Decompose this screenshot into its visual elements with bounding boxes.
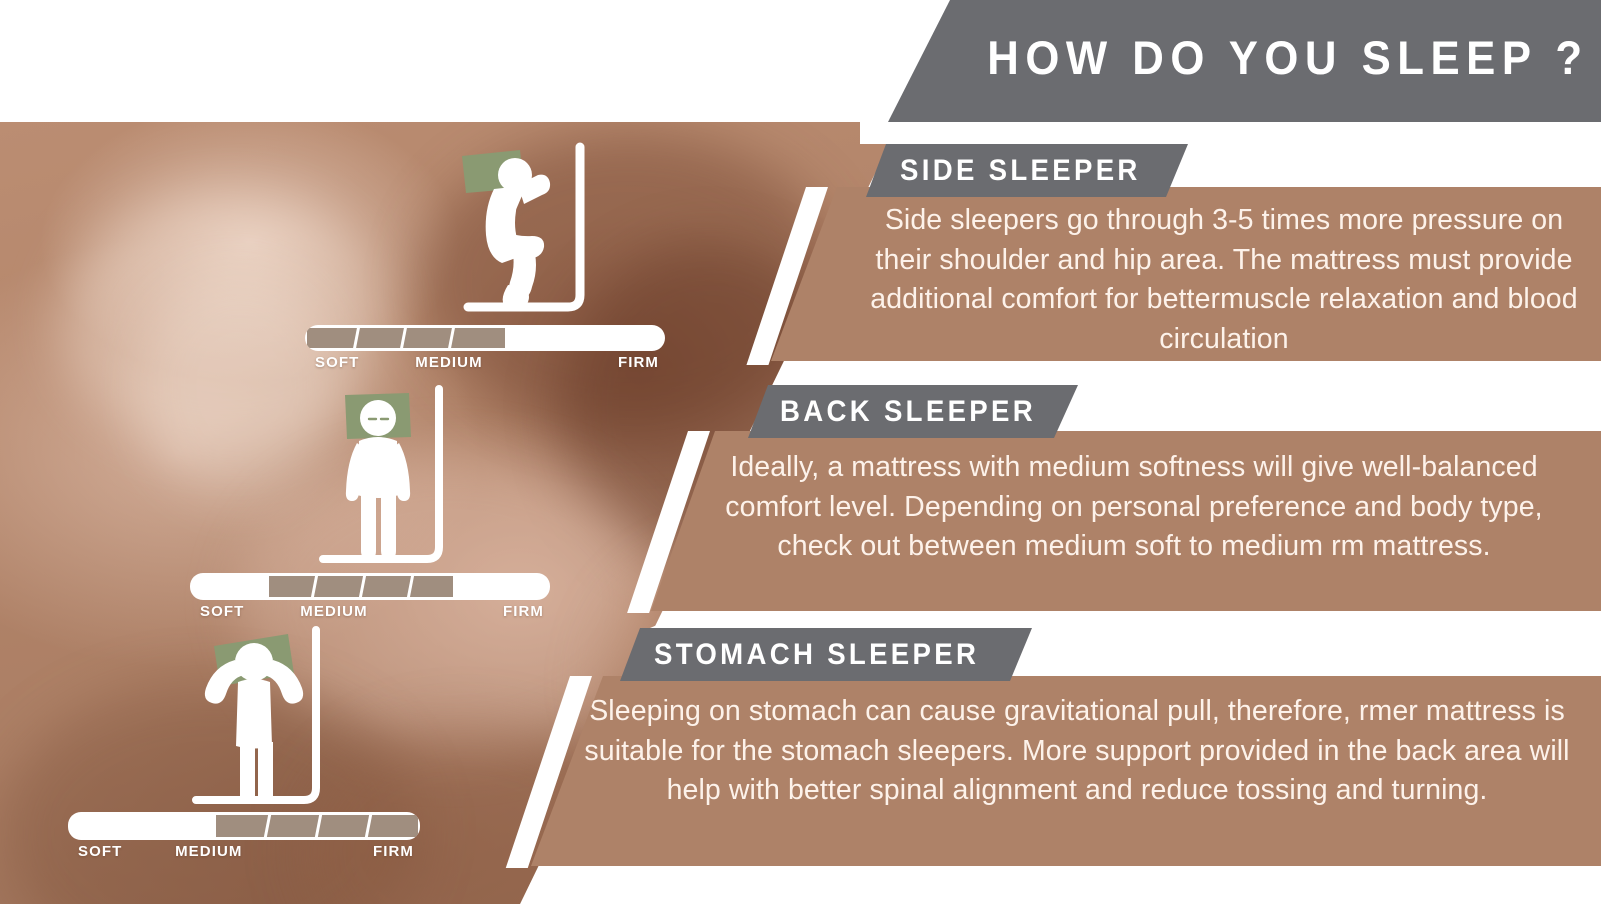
divider-below-title xyxy=(860,122,1601,144)
header-white-wedge xyxy=(0,0,960,122)
section-heading-label: SIDE SLEEPER xyxy=(900,154,1141,188)
firmness-scale-back: SOFT MEDIUM FIRM xyxy=(190,573,550,625)
firmness-bar[interactable] xyxy=(190,573,550,600)
label-medium: MEDIUM xyxy=(300,603,367,620)
section-panel-side-sleeper: Side sleepers go through 3-5 times more … xyxy=(771,187,1601,361)
side-sleeper-illustration-group: SOFT MEDIUM FIRM xyxy=(305,135,680,376)
firmness-fill xyxy=(269,576,453,597)
firmness-scale-stomach: SOFT MEDIUM FIRM xyxy=(68,812,420,865)
section-heading-side-sleeper: SIDE SLEEPER xyxy=(866,144,1188,197)
label-soft: SOFT xyxy=(200,603,244,620)
section-body-side-sleeper: Side sleepers go through 3-5 times more … xyxy=(771,187,1601,359)
firmness-fill xyxy=(307,328,505,348)
section-heading-label: BACK SLEEPER xyxy=(780,395,1036,429)
back-sleeper-icon xyxy=(305,383,485,563)
section-heading-stomach-sleeper: STOMACH SLEEPER xyxy=(620,628,1032,681)
firmness-bar[interactable] xyxy=(68,812,420,840)
label-firm: FIRM xyxy=(373,843,414,860)
section-heading-back-sleeper: BACK SLEEPER xyxy=(748,385,1078,438)
section-heading-label: STOMACH SLEEPER xyxy=(654,638,979,672)
firmness-bar[interactable] xyxy=(305,325,665,351)
label-firm: FIRM xyxy=(618,354,659,371)
firmness-labels: SOFT MEDIUM FIRM xyxy=(68,843,420,865)
divider-section-1-2 xyxy=(780,361,1601,385)
section-body-stomach-sleeper: Sleeping on stomach can cause gravitatio… xyxy=(531,676,1601,811)
section-panel-stomach-sleeper: Sleeping on stomach can cause gravitatio… xyxy=(531,676,1601,866)
label-soft: SOFT xyxy=(315,354,359,371)
page-title: HOW DO YOU SLEEP ? xyxy=(988,30,1589,85)
stomach-sleeper-illustration-group: SOFT MEDIUM FIRM xyxy=(68,620,443,865)
section-panel-back-sleeper: Ideally, a mattress with medium softness… xyxy=(651,431,1601,611)
infographic-root: SOFT MEDIUM FIRM xyxy=(0,0,1601,904)
label-firm: FIRM xyxy=(503,603,544,620)
label-medium: MEDIUM xyxy=(175,843,242,860)
stomach-sleeper-icon xyxy=(178,620,363,805)
firmness-labels: SOFT MEDIUM FIRM xyxy=(305,354,665,376)
label-medium: MEDIUM xyxy=(415,354,482,371)
divider-bottom xyxy=(540,866,1601,904)
firmness-scale-side: SOFT MEDIUM FIRM xyxy=(305,325,665,376)
label-soft: SOFT xyxy=(78,843,122,860)
divider-section-2-3 xyxy=(650,611,1601,628)
back-sleeper-illustration-group: SOFT MEDIUM FIRM xyxy=(190,383,565,625)
section-body-back-sleeper: Ideally, a mattress with medium softness… xyxy=(651,431,1601,567)
firmness-fill xyxy=(216,815,418,837)
side-sleeper-icon xyxy=(420,135,610,325)
